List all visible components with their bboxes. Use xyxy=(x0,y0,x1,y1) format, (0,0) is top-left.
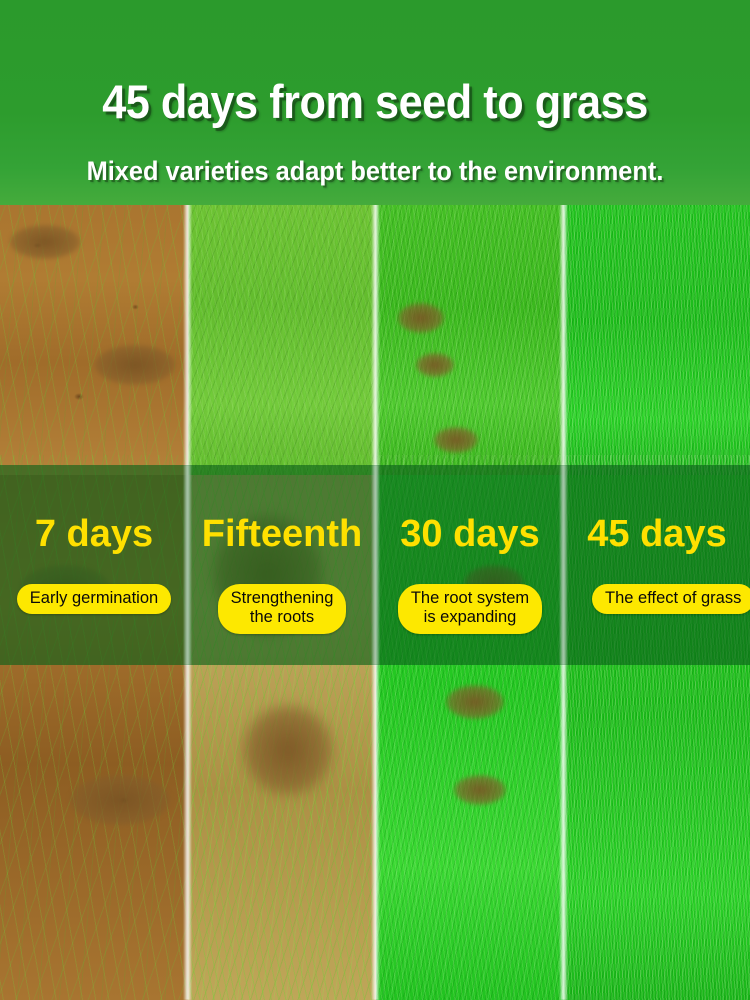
stage-label-group-2: Fifteenth Strengthening the roots xyxy=(188,465,376,665)
dirt-patch xyxy=(70,775,170,825)
page-subtitle: Mixed varieties adapt better to the envi… xyxy=(23,158,728,185)
stage-day-label-2: Fifteenth xyxy=(188,515,376,553)
stage-4-top-photo xyxy=(564,195,750,475)
stage-day-label-3: 30 days xyxy=(376,515,564,553)
dirt-patch xyxy=(398,303,444,333)
dirt-patch xyxy=(416,353,454,377)
stage-label-group-4: 45 days The effect of grass xyxy=(564,465,750,665)
stage-2-top-photo xyxy=(188,195,376,475)
stage-badge-2[interactable]: Strengthening the roots xyxy=(218,584,347,634)
stage-day-label-1: 7 days xyxy=(0,515,188,553)
dirt-patch xyxy=(10,225,80,259)
growth-timeline-poster: 7 days Early germination Fifteenth Stren… xyxy=(0,0,750,1000)
stage-label-group-3: 30 days The root system is expanding xyxy=(376,465,564,665)
poster-header: 45 days from seed to grass Mixed varieti… xyxy=(0,0,750,205)
dirt-patch xyxy=(454,775,506,805)
stage-badge-3[interactable]: The root system is expanding xyxy=(398,584,542,634)
dirt-patch xyxy=(95,345,175,385)
stage-badge-4[interactable]: The effect of grass xyxy=(592,584,750,614)
dirt-patch xyxy=(243,705,333,795)
panel-divider-3-overlay xyxy=(559,465,568,665)
stage-label-group-1: 7 days Early germination xyxy=(0,465,188,665)
stage-1-top-photo xyxy=(0,195,188,475)
panel-divider-1-overlay xyxy=(183,465,192,665)
stage-3-top-photo xyxy=(376,195,564,475)
stage-day-label-4: 45 days xyxy=(564,515,750,553)
dirt-patch xyxy=(434,427,478,453)
blade-texture xyxy=(564,195,750,495)
dirt-patch xyxy=(446,685,504,719)
stage-badge-1[interactable]: Early germination xyxy=(17,584,171,614)
blade-texture xyxy=(188,195,376,495)
panel-divider-2-overlay xyxy=(371,465,380,665)
page-title: 45 days from seed to grass xyxy=(30,78,720,125)
